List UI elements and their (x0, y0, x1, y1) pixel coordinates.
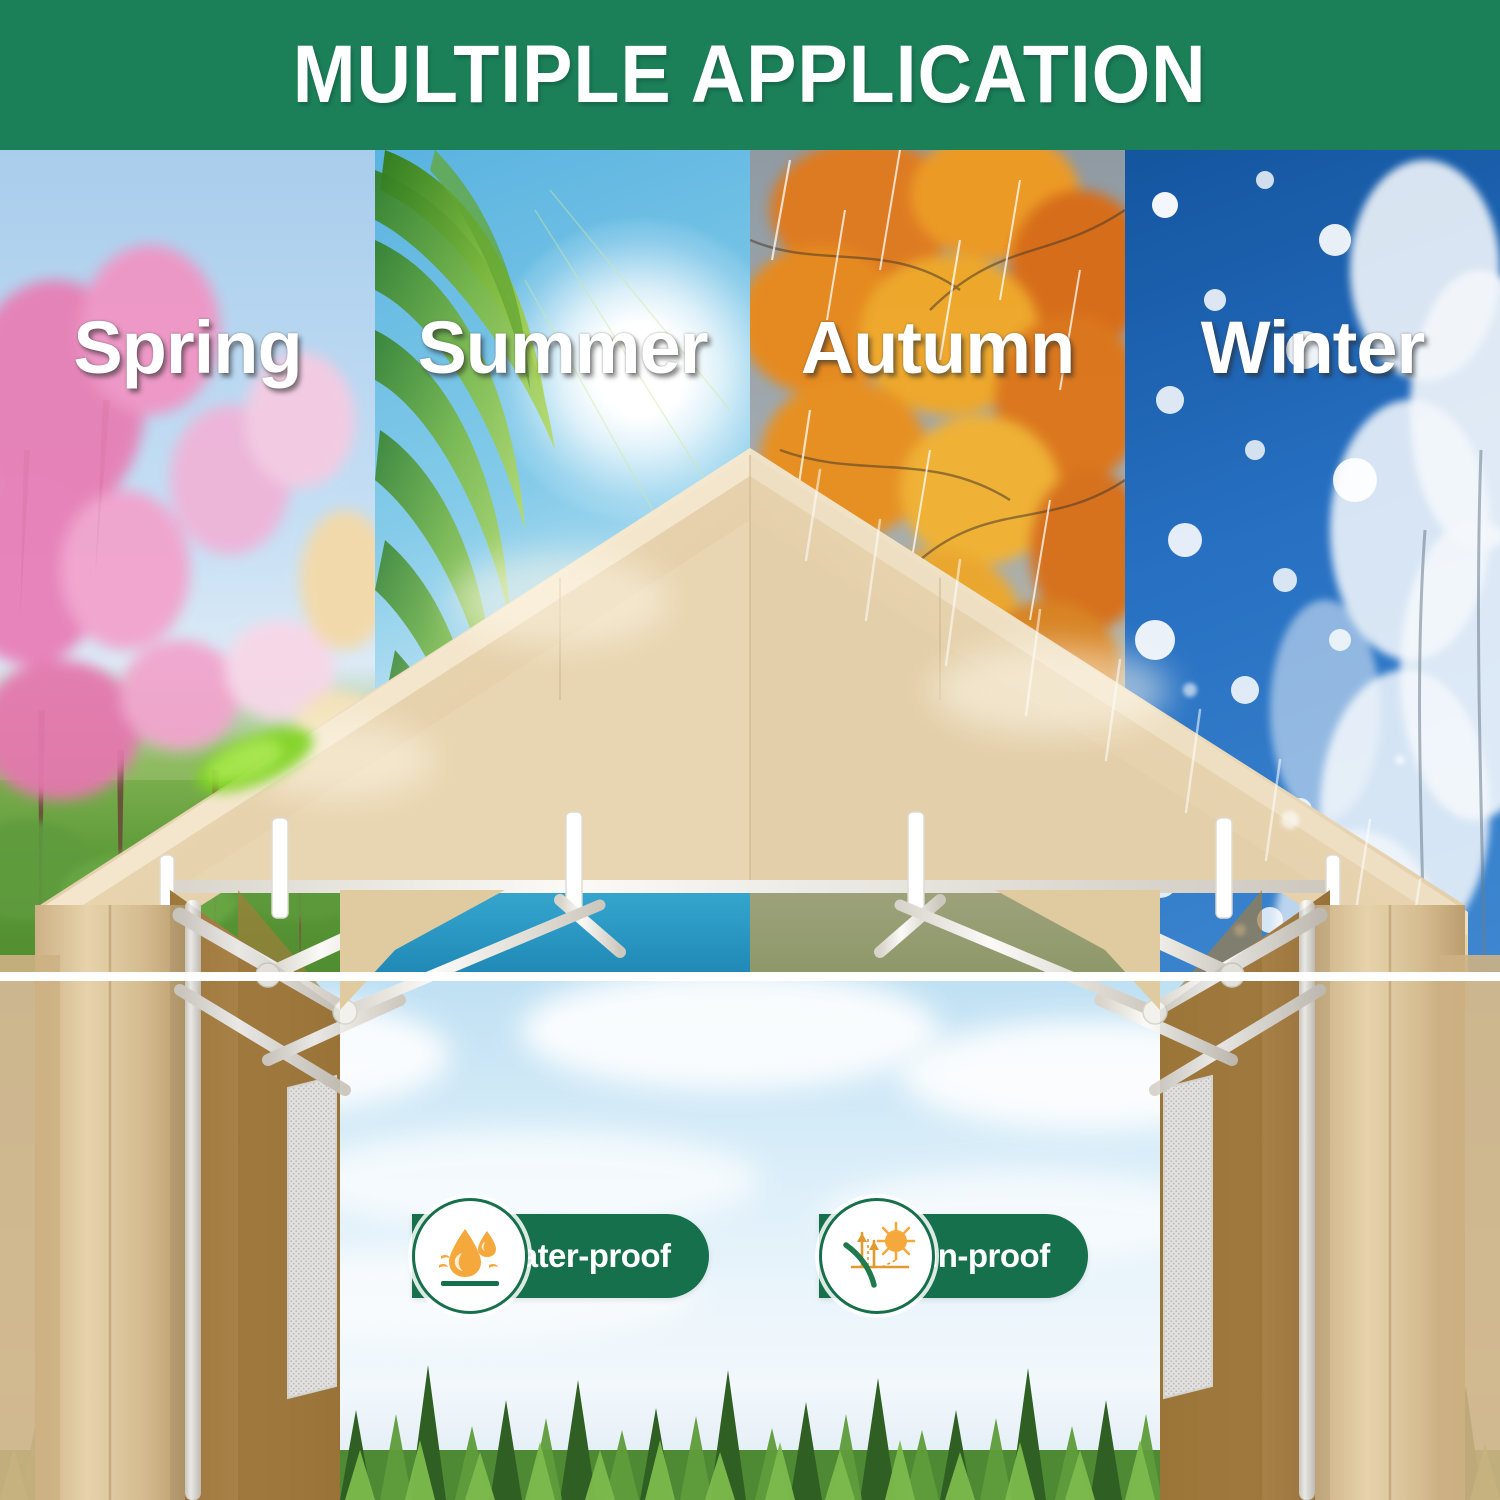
autumn-maple-icon (750, 150, 1125, 980)
season-label-autumn: Autumn (750, 305, 1125, 390)
page-title: MULTIPLE APPLICATION (293, 34, 1207, 116)
spring-trees-icon (0, 150, 375, 980)
badge-icon-circle (412, 1198, 528, 1314)
water-drop-icon (429, 1215, 511, 1297)
season-panel-summer: Summer (375, 150, 750, 980)
badge-sun-proof[interactable]: Sun-proof (819, 1198, 1088, 1314)
season-panel-spring: Spring (0, 150, 375, 980)
season-panel-winter: Winter (1125, 150, 1500, 980)
product-marketing-image: MULTIPLE APPLICATION (0, 0, 1500, 1500)
cloud (120, 1000, 450, 1110)
badge-icon-circle (819, 1198, 935, 1314)
pine-forest-icon (0, 1330, 1500, 1500)
badge-water-proof[interactable]: Water-proof (412, 1198, 708, 1314)
section-divider (0, 972, 1500, 981)
season-label-winter: Winter (1125, 305, 1500, 390)
seasons-strip: Spring (0, 150, 1500, 980)
summer-sea (375, 830, 750, 980)
season-panel-autumn: Autumn (750, 150, 1125, 980)
feature-badges-row: Water-proof Sun-proof (0, 1192, 1500, 1320)
winter-frost-trees-icon (1125, 150, 1500, 980)
cloud (900, 1020, 1280, 1130)
sun-shield-icon (836, 1215, 918, 1297)
season-label-spring: Spring (0, 305, 375, 390)
header-banner: MULTIPLE APPLICATION (0, 0, 1500, 150)
season-label-summer: Summer (375, 305, 750, 390)
